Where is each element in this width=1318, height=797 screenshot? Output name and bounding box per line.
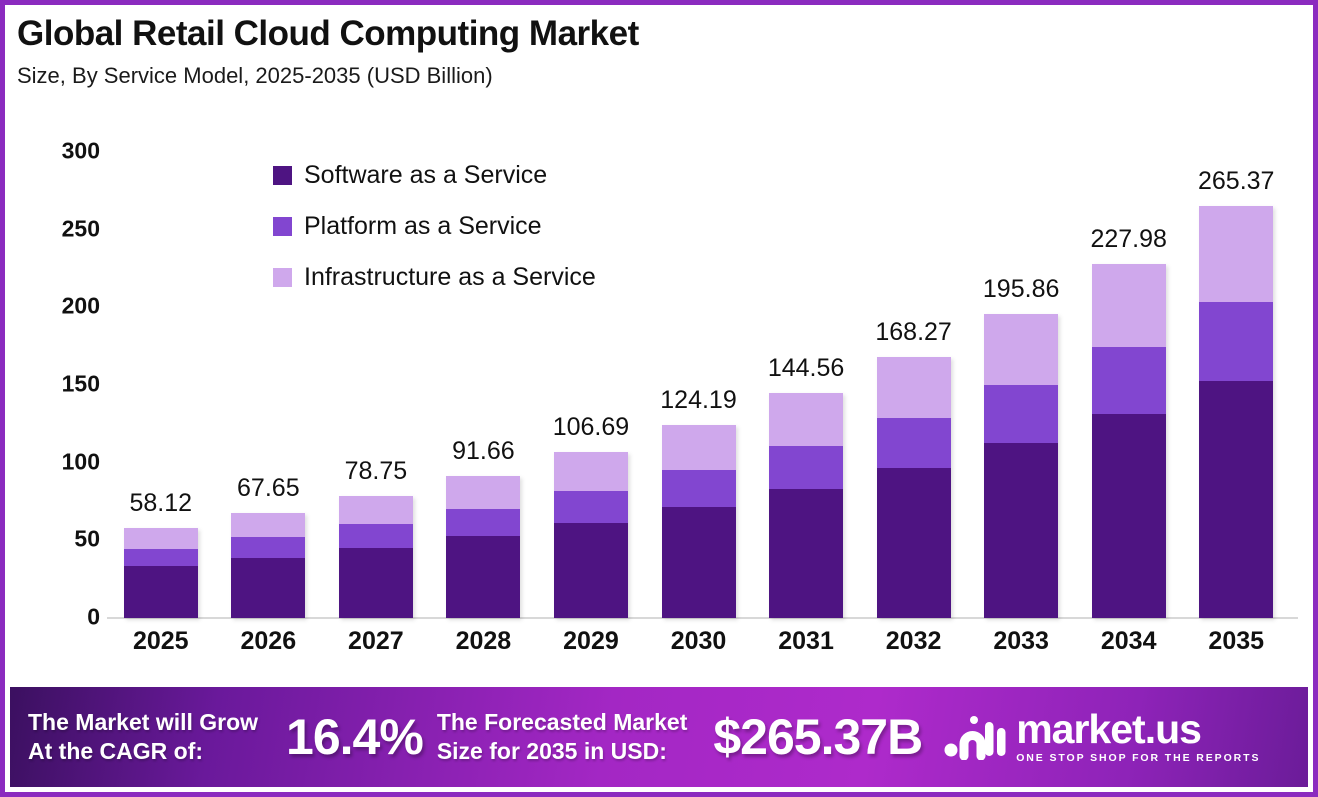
x-axis-label: 2031: [752, 627, 860, 656]
logo-wordmark: market.us: [1016, 710, 1260, 749]
bar-stack[interactable]: [124, 528, 198, 618]
bar-segment[interactable]: [769, 489, 843, 618]
bar-stack[interactable]: [231, 513, 305, 618]
bar-column[interactable]: 227.98: [1075, 135, 1183, 618]
header: Global Retail Cloud Computing Market Siz…: [17, 13, 639, 89]
legend-item-label: Platform as a Service: [304, 212, 542, 241]
chart-legend: Software as a ServicePlatform as a Servi…: [273, 150, 596, 303]
y-axis-tick-150: 150: [20, 371, 100, 398]
bar-segment[interactable]: [124, 528, 198, 549]
bar-total-label: 168.27: [860, 318, 968, 347]
market-us-logo-mark: [944, 714, 1006, 760]
cagr-caption-line2: At the CAGR of:: [28, 737, 258, 766]
bar-total-label: 227.98: [1075, 225, 1183, 254]
cagr-value: 16.4%: [286, 708, 423, 766]
bar-stack[interactable]: [1199, 206, 1273, 618]
bar-segment[interactable]: [1092, 414, 1166, 618]
bar-segment[interactable]: [984, 443, 1058, 618]
bar-stack[interactable]: [662, 425, 736, 618]
bar-segment[interactable]: [1199, 381, 1273, 618]
bar-total-label: 265.37: [1182, 167, 1290, 196]
page-title: Global Retail Cloud Computing Market: [17, 13, 639, 56]
market-us-logo-text: market.us ONE STOP SHOP FOR THE REPORTS: [1016, 710, 1260, 764]
x-axis-label: 2029: [537, 627, 645, 656]
legend-item[interactable]: Platform as a Service: [273, 201, 596, 252]
bar-stack[interactable]: [1092, 264, 1166, 618]
bar-segment[interactable]: [662, 470, 736, 507]
bar-column[interactable]: 124.19: [645, 135, 753, 618]
bar-stack[interactable]: [554, 452, 628, 618]
bar-stack[interactable]: [877, 357, 951, 618]
bar-segment[interactable]: [877, 468, 951, 618]
bar-segment[interactable]: [1092, 347, 1166, 415]
bar-segment[interactable]: [984, 314, 1058, 385]
x-axis-label: 2027: [322, 627, 430, 656]
bar-column[interactable]: 195.86: [967, 135, 1075, 618]
x-axis-label: 2025: [107, 627, 215, 656]
bar-stack[interactable]: [769, 393, 843, 618]
bar-segment[interactable]: [984, 385, 1058, 443]
bar-total-label: 144.56: [752, 354, 860, 383]
bar-total-label: 91.66: [430, 437, 538, 466]
bar-segment[interactable]: [124, 566, 198, 618]
bar-segment[interactable]: [877, 418, 951, 468]
logo-tagline: ONE STOP SHOP FOR THE REPORTS: [1016, 752, 1260, 764]
y-axis-tick-200: 200: [20, 293, 100, 320]
bar-segment[interactable]: [339, 524, 413, 547]
bar-column[interactable]: 144.56: [752, 135, 860, 618]
x-axis-label: 2026: [215, 627, 323, 656]
bar-total-label: 106.69: [537, 413, 645, 442]
bar-segment[interactable]: [769, 393, 843, 445]
y-axis-tick-100: 100: [20, 448, 100, 475]
bar-segment[interactable]: [339, 496, 413, 525]
page-subtitle: Size, By Service Model, 2025-2035 (USD B…: [17, 63, 639, 89]
bar-segment[interactable]: [662, 507, 736, 618]
bar-segment[interactable]: [231, 558, 305, 618]
legend-swatch-saas: [273, 166, 292, 185]
bar-segment[interactable]: [446, 536, 520, 618]
chart-plot-area: 050100150200250300 58.1267.6578.7591.661…: [10, 135, 1318, 695]
market-us-logo[interactable]: market.us ONE STOP SHOP FOR THE REPORTS: [944, 710, 1260, 764]
bar-segment[interactable]: [124, 549, 198, 566]
bar-segment[interactable]: [554, 523, 628, 618]
y-axis-tick-50: 50: [20, 526, 100, 553]
y-axis-tick-0: 0: [20, 604, 100, 631]
forecast-size-caption: The Forecasted Market Size for 2035 in U…: [437, 708, 688, 767]
x-axis-label: 2034: [1075, 627, 1183, 656]
legend-item-label: Software as a Service: [304, 161, 547, 190]
bar-total-label: 195.86: [967, 275, 1075, 304]
bar-segment[interactable]: [554, 491, 628, 523]
bar-segment[interactable]: [1199, 302, 1273, 381]
x-axis-label: 2035: [1182, 627, 1290, 656]
cagr-caption-line1: The Market will Grow: [28, 708, 258, 737]
x-axis-label: 2033: [967, 627, 1075, 656]
bar-stack[interactable]: [446, 476, 520, 618]
footer-banner: The Market will Grow At the CAGR of: 16.…: [10, 687, 1308, 787]
bar-column[interactable]: 58.12: [107, 135, 215, 618]
cagr-caption: The Market will Grow At the CAGR of:: [28, 708, 258, 767]
bar-segment[interactable]: [1199, 206, 1273, 302]
y-axis-tick-250: 250: [20, 215, 100, 242]
bar-segment[interactable]: [877, 357, 951, 418]
bar-segment[interactable]: [769, 446, 843, 489]
forecast-size-value: $265.37B: [713, 708, 922, 766]
bar-segment[interactable]: [446, 476, 520, 509]
bar-total-label: 67.65: [215, 474, 323, 503]
bar-segment[interactable]: [1092, 264, 1166, 347]
y-axis-tick-300: 300: [20, 138, 100, 165]
bar-column[interactable]: 168.27: [860, 135, 968, 618]
bar-segment[interactable]: [554, 452, 628, 491]
legend-swatch-paas: [273, 217, 292, 236]
bar-segment[interactable]: [662, 425, 736, 470]
x-axis-labels: 2025202620272028202920302031203220332034…: [107, 627, 1290, 656]
legend-item-label: Infrastructure as a Service: [304, 263, 596, 292]
bar-stack[interactable]: [984, 314, 1058, 618]
forecast-size-caption-line1: The Forecasted Market: [437, 708, 688, 737]
bar-total-label: 58.12: [107, 489, 215, 518]
infographic-frame: Global Retail Cloud Computing Market Siz…: [0, 0, 1318, 797]
bar-total-label: 78.75: [322, 457, 430, 486]
bar-segment[interactable]: [231, 513, 305, 538]
bar-column[interactable]: 265.37: [1182, 135, 1290, 618]
bar-segment[interactable]: [446, 509, 520, 536]
x-axis-label: 2032: [860, 627, 968, 656]
legend-swatch-iaas: [273, 268, 292, 287]
x-axis-label: 2028: [430, 627, 538, 656]
x-axis-label: 2030: [645, 627, 753, 656]
legend-item[interactable]: Infrastructure as a Service: [273, 252, 596, 303]
bar-total-label: 124.19: [645, 386, 753, 415]
bar-segment[interactable]: [339, 548, 413, 618]
bar-stack[interactable]: [339, 496, 413, 618]
legend-item[interactable]: Software as a Service: [273, 150, 596, 201]
forecast-size-caption-line2: Size for 2035 in USD:: [437, 737, 688, 766]
bar-segment[interactable]: [231, 537, 305, 557]
